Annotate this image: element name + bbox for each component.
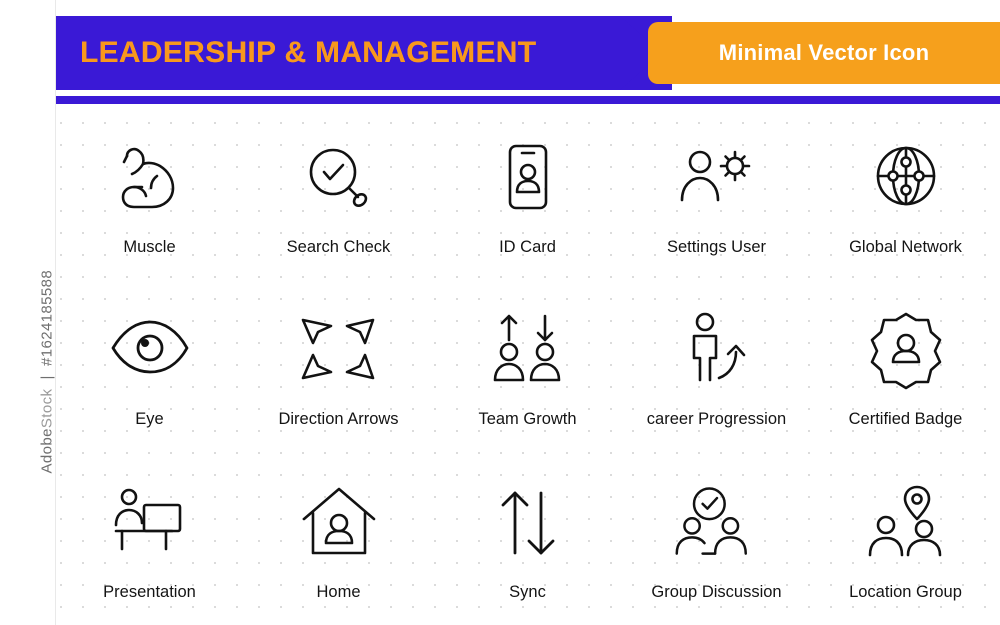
presentation-icon <box>104 477 196 569</box>
icon-cell-group-discussion[interactable]: Group Discussion <box>622 453 811 625</box>
icon-label: Muscle <box>123 238 175 257</box>
icon-label: ID Card <box>499 238 556 257</box>
icon-label: Location Group <box>849 583 962 602</box>
icon-label: Group Discussion <box>651 583 781 602</box>
direction-arrows-icon <box>293 304 385 396</box>
career-progression-icon <box>671 304 763 396</box>
sync-icon <box>482 477 574 569</box>
search-check-icon <box>293 132 385 224</box>
icon-label: Eye <box>135 410 163 429</box>
id-card-icon <box>482 132 574 224</box>
icon-label: Direction Arrows <box>278 410 398 429</box>
icon-sheet: LEADERSHIP & MANAGEMENT Minimal Vector I… <box>0 0 1000 625</box>
icon-label: Global Network <box>849 238 962 257</box>
group-discussion-icon <box>671 477 763 569</box>
certified-badge-icon <box>860 304 952 396</box>
watermark-rail: AdobeStock | #1624185588 <box>0 0 56 625</box>
icon-cell-career-progression[interactable]: career Progression <box>622 280 811 452</box>
icon-cell-settings-user[interactable]: Settings User <box>622 108 811 280</box>
icon-cell-presentation[interactable]: Presentation <box>55 453 244 625</box>
icon-label: Home <box>316 583 360 602</box>
icon-cell-direction-arrows[interactable]: Direction Arrows <box>244 280 433 452</box>
location-group-icon <box>860 477 952 569</box>
icon-label: Sync <box>509 583 546 602</box>
icon-cell-eye[interactable]: Eye <box>55 280 244 452</box>
icon-label: Team Growth <box>478 410 576 429</box>
eye-icon <box>104 304 196 396</box>
icon-cell-certified-badge[interactable]: Certified Badge <box>811 280 1000 452</box>
header-orange-panel: Minimal Vector Icon <box>648 22 1000 84</box>
icon-cell-home[interactable]: Home <box>244 453 433 625</box>
watermark-id: #1624185588 <box>39 270 56 366</box>
icon-cell-search-check[interactable]: Search Check <box>244 108 433 280</box>
header-banner: LEADERSHIP & MANAGEMENT Minimal Vector I… <box>0 16 1000 90</box>
icon-label: Certified Badge <box>849 410 963 429</box>
icon-cell-location-group[interactable]: Location Group <box>811 453 1000 625</box>
header-subtitle: Minimal Vector Icon <box>719 40 929 66</box>
page-title: LEADERSHIP & MANAGEMENT <box>80 16 536 90</box>
icon-cell-muscle[interactable]: Muscle <box>55 108 244 280</box>
icon-label: Presentation <box>103 583 196 602</box>
icon-cell-global-network[interactable]: Global Network <box>811 108 1000 280</box>
muscle-icon <box>104 132 196 224</box>
settings-user-icon <box>671 132 763 224</box>
watermark-suffix: Stock <box>39 389 56 429</box>
header-underline <box>0 96 1000 104</box>
icon-label: Search Check <box>287 238 391 257</box>
watermark-brand: Adobe <box>39 428 56 473</box>
watermark-text: AdobeStock | #1624185588 <box>39 144 56 474</box>
icon-cell-team-growth[interactable]: Team Growth <box>433 280 622 452</box>
icon-grid: Muscle Search Check <box>55 108 1000 625</box>
team-growth-icon <box>482 304 574 396</box>
icon-label: Settings User <box>667 238 766 257</box>
icon-cell-sync[interactable]: Sync <box>433 453 622 625</box>
right-edge <box>996 104 1000 625</box>
icon-label: career Progression <box>647 410 786 429</box>
home-icon <box>293 477 385 569</box>
icon-cell-id-card[interactable]: ID Card <box>433 108 622 280</box>
global-network-icon <box>860 132 952 224</box>
